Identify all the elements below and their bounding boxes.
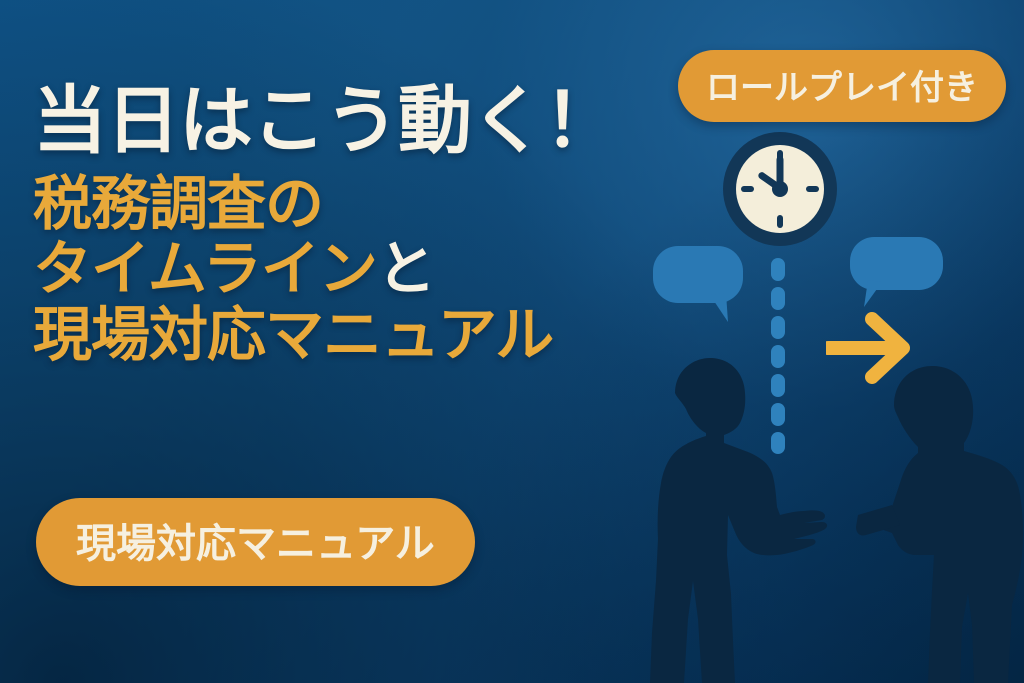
clock-icon (721, 130, 839, 248)
promotional-banner: 当日はこう動く！ 税務調査の タイムラインと 現場対応マニュアル 現場対応マニュ… (0, 0, 1024, 683)
badge-roleplay-included[interactable]: ロールプレイ付き (678, 50, 1006, 122)
subtitle-line-3: 現場対応マニュアル (33, 303, 653, 368)
person-silhouette-gesturing-icon (598, 349, 848, 683)
headline-group: 当日はこう動く！ 税務調査の タイムラインと 現場対応マニュアル (33, 84, 653, 368)
subtitle-line-2-main: タイムライン (33, 236, 377, 302)
speech-bubble-left-icon (652, 245, 744, 323)
subtitle-line-2-suffix: と (377, 236, 435, 302)
page-title: 当日はこう動く！ (33, 84, 653, 158)
speech-bubble-right-icon (848, 236, 944, 308)
subtitle-line-1: 税務調査の (33, 172, 653, 237)
subtitle-group: 税務調査の タイムラインと 現場対応マニュアル (33, 172, 653, 368)
person-silhouette-with-clipboard-icon (856, 355, 1024, 683)
subtitle-line-2: タイムラインと (33, 237, 653, 302)
badge-field-manual[interactable]: 現場対応マニュアル (36, 498, 475, 586)
